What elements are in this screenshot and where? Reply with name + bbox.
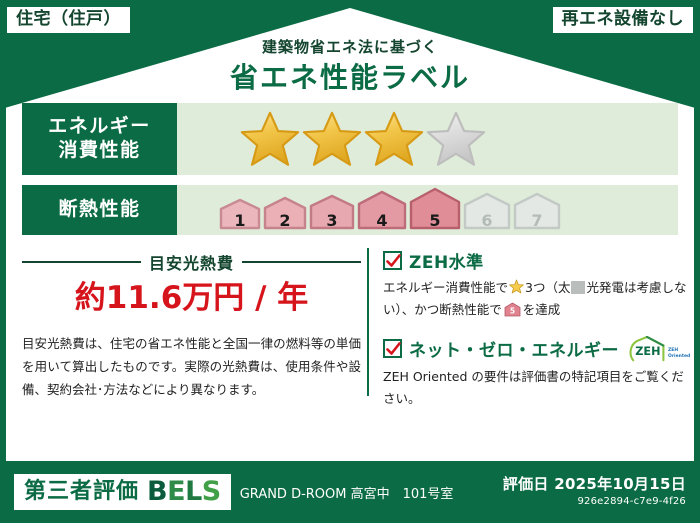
star-filled-icon bbox=[301, 108, 363, 170]
net-zero-energy-check-item: ネット・ゼロ・エネルギー ZEH ZEH Oriented bbox=[383, 336, 690, 410]
insulation-level-2: 2 bbox=[263, 196, 307, 234]
svg-text:ZEH: ZEH bbox=[635, 345, 660, 358]
zeh-oriented-logo: ZEH ZEH Oriented bbox=[628, 336, 690, 362]
insulation-performance-value: 1234567 bbox=[177, 185, 678, 235]
title-subtitle: 建築物省エネ法に基づく bbox=[0, 40, 700, 55]
lower-section: 目安光熱費 約11.6万円 / 年 目安光熱費は、住宅の省エネ性能と全国一律の燃… bbox=[22, 248, 678, 396]
zeh-standard-star-count: 3つ（太 bbox=[525, 280, 570, 295]
utility-cost-heading: 目安光熱費 bbox=[22, 250, 361, 274]
zeh-standard-check-item: ZEH水準 エネルギー消費性能で3つ（太光発電は考慮しない）、かつ断熱性能で5を… bbox=[383, 248, 690, 324]
energy-performance-label: エネルギー 消費性能 bbox=[22, 103, 177, 175]
cost-heading-text: 目安光熱費 bbox=[149, 250, 234, 274]
inline-house-badge: 5 bbox=[504, 302, 521, 324]
title-main: 省エネ性能ラベル bbox=[0, 64, 700, 92]
star-filled-icon bbox=[239, 108, 301, 170]
bels-logo: 第三者評価 BELS bbox=[14, 474, 231, 510]
zeh-oriented-sublabel: ZEH Oriented bbox=[668, 348, 690, 361]
building-type-tag: 住宅（住戸） bbox=[6, 6, 131, 34]
svg-text:5: 5 bbox=[510, 306, 515, 315]
insulation-level-number: 3 bbox=[309, 213, 355, 229]
zeh-standard-body-part1: エネルギー消費性能で bbox=[383, 280, 508, 295]
zeh-standard-head: ZEH水準 bbox=[383, 248, 690, 273]
net-zero-energy-checkbox[interactable] bbox=[383, 339, 402, 358]
zeh-standard-body-part3: を達成 bbox=[523, 302, 561, 317]
utility-cost-panel: 目安光熱費 約11.6万円 / 年 目安光熱費は、住宅の省エネ性能と全国一律の燃… bbox=[22, 248, 367, 396]
net-zero-energy-head: ネット・ゼロ・エネルギー ZEH ZEH Oriented bbox=[383, 336, 690, 362]
zeh-standard-title: ZEH水準 bbox=[409, 248, 484, 273]
utility-cost-note: 目安光熱費は、住宅の省エネ性能と全国一律の燃料等の単価を用いて算出したものです。… bbox=[22, 332, 361, 401]
energy-performance-value bbox=[177, 103, 678, 175]
insulation-level-6: 6 bbox=[463, 192, 511, 234]
insulation-level-1: 1 bbox=[219, 198, 261, 234]
zeh-sub-line2: Oriented bbox=[668, 354, 690, 359]
evaluation-info: 評価日 2025年10月15日 926e2894-c7e9-4f26 bbox=[503, 475, 686, 508]
bels-letter-s: S bbox=[202, 476, 221, 507]
star-empty-icon bbox=[425, 108, 487, 170]
insulation-level-number: 6 bbox=[463, 213, 511, 229]
cost-rule-left bbox=[22, 261, 141, 263]
evaluation-id: 926e2894-c7e9-4f26 bbox=[503, 496, 686, 509]
label-content: エネルギー 消費性能 断熱性能 1234567 目安光熱費 約11.6万 bbox=[22, 103, 678, 455]
energy-label-line1: エネルギー bbox=[48, 115, 151, 139]
net-zero-energy-body: ZEH Oriented の要件は評価書の特記項目をご覧ください。 bbox=[383, 366, 690, 410]
bels-jp-text: 第三者評価 bbox=[24, 481, 139, 503]
bels-energy-label: 住宅（住戸） 再エネ設備なし 建築物省エネ法に基づく 省エネ性能ラベル エネルギ… bbox=[0, 0, 700, 523]
label-footer: 第三者評価 BELS GRAND D-ROOM 高宮中 101号室 評価日 20… bbox=[0, 461, 700, 523]
inline-star-icon bbox=[509, 279, 524, 294]
insulation-level-scale: 1234567 bbox=[219, 187, 561, 234]
net-zero-energy-title: ネット・ゼロ・エネルギー bbox=[409, 336, 619, 361]
zeh-standard-body: エネルギー消費性能で3つ（太光発電は考慮しない）、かつ断熱性能で5を達成 bbox=[383, 277, 690, 324]
redacted-character bbox=[571, 281, 585, 294]
insulation-performance-row: 断熱性能 1234567 bbox=[22, 185, 678, 235]
insulation-level-7: 7 bbox=[513, 192, 561, 234]
renewable-equipment-tag: 再エネ設備なし bbox=[552, 6, 695, 34]
insulation-level-4: 4 bbox=[357, 190, 407, 234]
bels-letter-e: E bbox=[167, 476, 185, 507]
insulation-level-5: 5 bbox=[409, 187, 461, 234]
cost-rule-right bbox=[242, 261, 361, 263]
star-rating bbox=[239, 108, 487, 170]
star-filled-icon bbox=[363, 108, 425, 170]
zeh-checks-panel: ZEH水準 エネルギー消費性能で3つ（太光発電は考慮しない）、かつ断熱性能で5を… bbox=[367, 248, 690, 396]
energy-label-line2: 消費性能 bbox=[58, 139, 140, 163]
insulation-level-3: 3 bbox=[309, 194, 355, 234]
bels-letter-b: B bbox=[147, 476, 167, 507]
evaluation-date: 評価日 2025年10月15日 bbox=[503, 475, 686, 494]
insulation-level-number: 7 bbox=[513, 213, 561, 229]
bels-letter-l: L bbox=[185, 476, 202, 507]
insulation-level-number: 2 bbox=[263, 213, 307, 229]
label-title: 建築物省エネ法に基づく 省エネ性能ラベル bbox=[0, 40, 700, 92]
property-name: GRAND D-ROOM 高宮中 101号室 bbox=[240, 483, 454, 502]
insulation-performance-label: 断熱性能 bbox=[22, 185, 177, 235]
insulation-level-number: 4 bbox=[357, 213, 407, 229]
insulation-level-number: 5 bbox=[409, 213, 461, 229]
utility-cost-value: 約11.6万円 / 年 bbox=[22, 283, 361, 314]
insulation-level-number: 1 bbox=[219, 213, 261, 229]
energy-performance-row: エネルギー 消費性能 bbox=[22, 103, 678, 175]
zeh-standard-checkbox[interactable] bbox=[383, 251, 402, 270]
bels-letters: BELS bbox=[147, 478, 221, 505]
